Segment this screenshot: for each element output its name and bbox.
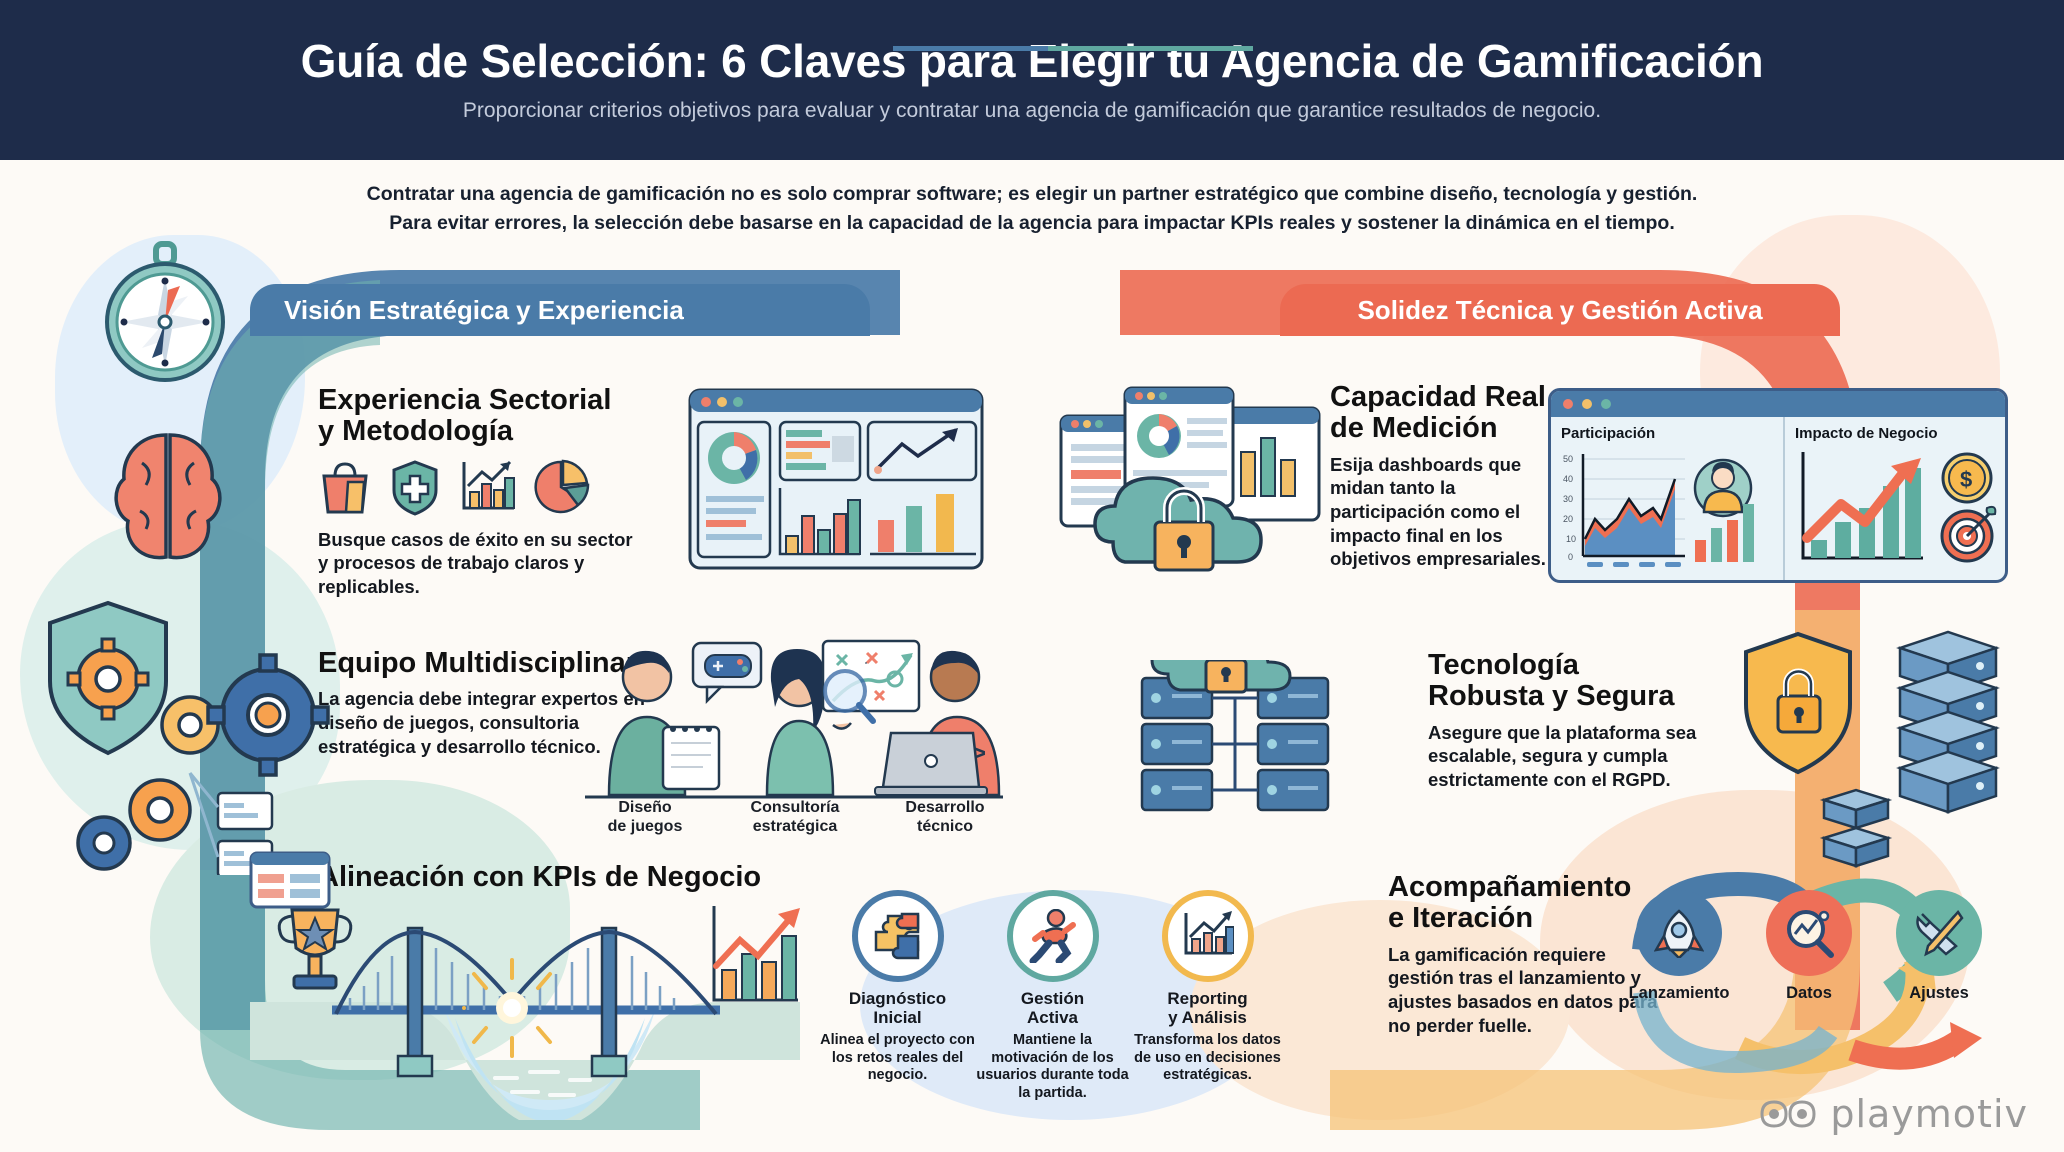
dashboard-card-icon <box>248 850 334 912</box>
cycle-circle-2 <box>1766 890 1852 976</box>
pane-title-impacto: Impacto de Negocio <box>1795 425 2007 442</box>
compass-icon <box>100 240 230 385</box>
rocket-icon <box>1654 908 1704 958</box>
block-tecnologia-robusta: Tecnología Robusta y Segura Asegure que … <box>1428 650 1748 792</box>
brand-logo-text: playmotiv <box>1830 1092 2028 1136</box>
health-shield-icon <box>390 458 440 516</box>
column-header-left: Visión Estratégica y Experiencia <box>250 284 870 336</box>
block-experiencia-title-l1: Experiencia Sectorial <box>318 384 611 416</box>
bar-chart-icon <box>458 458 516 516</box>
column-header-left-label: Visión Estratégica y Experiencia <box>284 295 684 326</box>
step-desc-2: Mantiene la motivación de los usuarios d… <box>975 1032 1130 1102</box>
window-dot-yellow <box>1582 399 1592 409</box>
column-header-right-label: Solidez Técnica y Gestión Activa <box>1357 295 1762 326</box>
step-circle-3 <box>1162 890 1254 982</box>
step-title-1: Diagnóstico Inicial <box>820 990 975 1027</box>
pane-title-participacion: Participación <box>1561 425 1773 442</box>
iteration-cycle: Lanzamiento Datos Ajustes <box>1620 890 1998 1003</box>
process-step-diagnostico: Diagnóstico Inicial Alinea el proyecto c… <box>820 890 975 1102</box>
window-dot-green <box>1601 399 1611 409</box>
magnifier-chart-icon <box>1784 908 1834 958</box>
cycle-circle-3 <box>1896 890 1982 976</box>
brain-icon <box>108 425 228 570</box>
block-experiencia-title: Experiencia Sectorial y Metodología <box>318 385 648 448</box>
block-tecnologia-title: Tecnología Robusta y Segura <box>1428 650 1748 713</box>
runner-icon <box>1029 909 1077 963</box>
dashboard-pane-impacto: Impacto de Negocio $ <box>1783 417 2008 583</box>
dashboard-pane-participacion: Participación 504030 20100 <box>1551 417 1783 583</box>
page-title: Guía de Selección: 6 Claves para Elegir … <box>301 37 1764 85</box>
cloud-lock-illustration <box>1055 360 1325 610</box>
block-tecnologia-body: Asegure que la plataforma sea escalable,… <box>1428 721 1748 792</box>
infographic-page: Guía de Selección: 6 Claves para Elegir … <box>0 0 2064 1152</box>
svg-text:40: 40 <box>1563 474 1573 484</box>
block-capacidad-medicion: Capacidad Real de Medición Esija dashboa… <box>1330 382 1550 571</box>
step-desc-3: Transforma los datos de uso en decisione… <box>1130 1032 1285 1084</box>
svg-text:0: 0 <box>1568 552 1573 562</box>
shopping-bag-icon <box>318 458 372 516</box>
shield-gear-icon <box>40 595 340 875</box>
analytics-dashboard-illustration <box>688 388 988 573</box>
page-subtitle: Proporcionar criterios objetivos para ev… <box>463 99 1601 123</box>
team-role-1: Consultoría estratégica <box>735 798 855 836</box>
svg-text:10: 10 <box>1566 534 1576 544</box>
svg-text:$: $ <box>1960 467 1972 492</box>
dashboard-titlebar <box>1551 391 2005 417</box>
block-alineacion-title: Alineación con KPIs de Negocio <box>318 862 788 893</box>
cycle-item-ajustes: Ajustes <box>1880 890 1998 1003</box>
team-illustration: </> <box>575 635 1005 810</box>
process-step-gestion: Gestión Activa Mantiene la motivación de… <box>975 890 1130 1102</box>
shield-lock-servers-illustration <box>1740 630 2030 880</box>
team-role-labels: Diseño de juegos Consultoría estratégica… <box>585 798 1005 836</box>
block-capacidad-body: Esija dashboards que midan tanto la part… <box>1330 453 1550 571</box>
cycle-circle-1 <box>1636 890 1722 976</box>
step-circle-2 <box>1007 890 1099 982</box>
svg-text:20: 20 <box>1563 514 1573 524</box>
step-circle-1 <box>852 890 944 982</box>
step-title-2: Gestión Activa <box>975 990 1130 1027</box>
cycle-label-3: Ajustes <box>1880 984 1998 1003</box>
playmotiv-mark-icon <box>1756 1094 1820 1134</box>
pie-chart-icon <box>534 458 590 516</box>
step-title-3: Reporting y Análisis <box>1130 990 1285 1027</box>
bar-chart-arrow-icon <box>1182 911 1234 961</box>
window-dot-red <box>1563 399 1573 409</box>
step-desc-1: Alinea el proyecto con los retos reales … <box>820 1032 975 1084</box>
process-step-reporting: Reporting y Análisis Transforma los dato… <box>1130 890 1285 1102</box>
cycle-item-datos: Datos <box>1750 890 1868 1003</box>
page-header: Guía de Selección: 6 Claves para Elegir … <box>0 0 2064 160</box>
svg-text:50: 50 <box>1563 454 1573 464</box>
cycle-label-2: Datos <box>1750 984 1868 1003</box>
column-header-right: Solidez Técnica y Gestión Activa <box>1280 284 1840 336</box>
svg-text:30: 30 <box>1563 494 1573 504</box>
team-role-0: Diseño de juegos <box>585 798 705 836</box>
block-experiencia-title-l2: y Metodología <box>318 415 513 447</box>
server-stack-illustration <box>1130 660 1350 880</box>
puzzle-icon <box>872 910 924 962</box>
block-experiencia-sectorial: Experiencia Sectorial y Metodología <box>318 385 648 599</box>
cycle-item-lanzamiento: Lanzamiento <box>1620 890 1738 1003</box>
process-steps: Diagnóstico Inicial Alinea el proyecto c… <box>820 890 1285 1102</box>
block-capacidad-title: Capacidad Real de Medición <box>1330 382 1550 445</box>
wrench-screwdriver-icon <box>1914 908 1964 958</box>
dashboard-body: Participación 504030 20100 <box>1551 417 2005 583</box>
cycle-label-1: Lanzamiento <box>1620 984 1738 1003</box>
sector-icon-row <box>318 458 648 516</box>
measurement-dashboard: Participación 504030 20100 <box>1548 388 2008 583</box>
block-experiencia-body: Busque casos de éxito en su sector y pro… <box>318 528 648 599</box>
team-role-2: Desarrollo técnico <box>885 798 1005 836</box>
step-connector-2 <box>1048 46 1253 51</box>
bridge-illustration <box>250 890 800 1120</box>
participacion-chart: 504030 20100 <box>1561 446 1773 576</box>
brand-logo: playmotiv <box>1756 1092 2028 1136</box>
impacto-chart: $ <box>1795 446 2007 576</box>
